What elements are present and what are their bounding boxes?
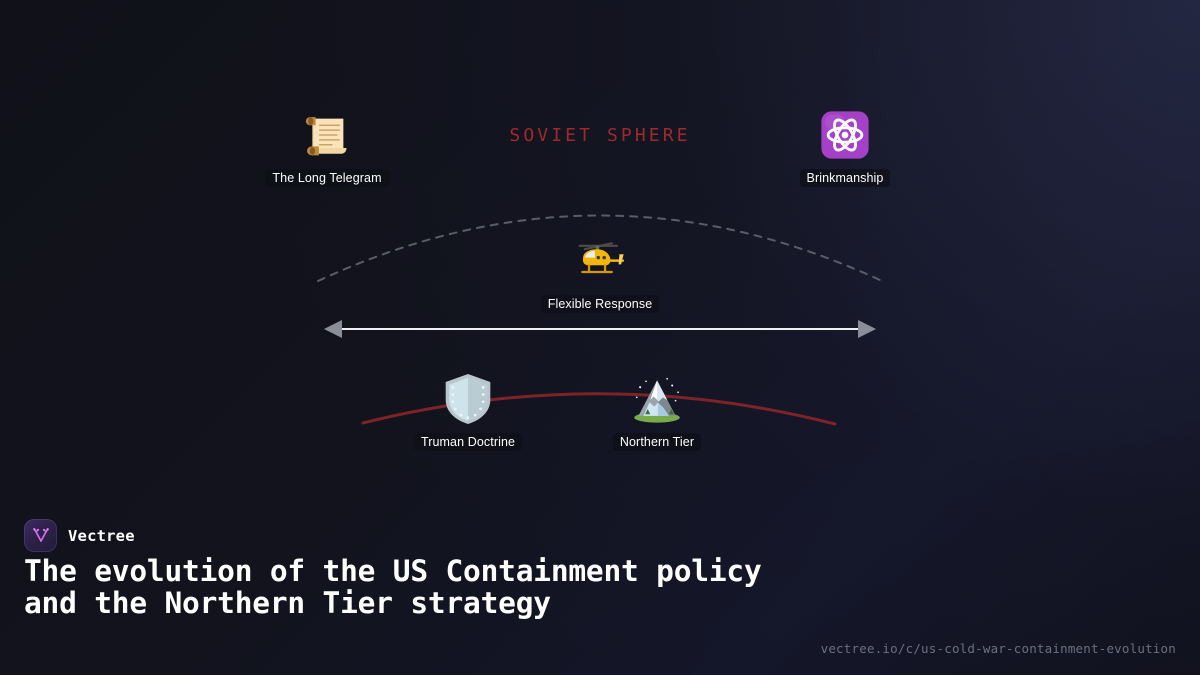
region-label-soviet-sphere: SOVIET SPHERE [509, 125, 690, 146]
node-label: Truman Doctrine [414, 433, 522, 451]
node-flexible-response[interactable]: Flexible Response [505, 233, 695, 313]
mountain-icon [629, 371, 685, 427]
helicopter-icon [572, 233, 628, 289]
page-title: The evolution of the US Containment poli… [24, 555, 824, 619]
source-url: vectree.io/c/us-cold-war-containment-evo… [821, 641, 1176, 656]
node-label: Northern Tier [613, 433, 701, 451]
infographic-canvas: SOVIET SPHERE The Long Telegr [0, 0, 1200, 675]
node-long-telegram[interactable]: The Long Telegram [232, 107, 422, 187]
atom-icon [817, 107, 873, 163]
node-brinkmanship[interactable]: Brinkmanship [750, 107, 940, 187]
brand-name: Vectree [68, 527, 135, 545]
scroll-icon [299, 107, 355, 163]
node-northern-tier[interactable]: Northern Tier [562, 371, 752, 451]
node-label: Flexible Response [541, 295, 660, 313]
vectree-logo-icon [24, 519, 57, 552]
brand[interactable]: Vectree [24, 519, 135, 552]
node-label: The Long Telegram [265, 169, 388, 187]
node-label: Brinkmanship [800, 169, 891, 187]
shield-icon [440, 371, 496, 427]
node-truman-doctrine[interactable]: Truman Doctrine [373, 371, 563, 451]
footer: Vectree The evolution of the US Containm… [0, 510, 1200, 675]
